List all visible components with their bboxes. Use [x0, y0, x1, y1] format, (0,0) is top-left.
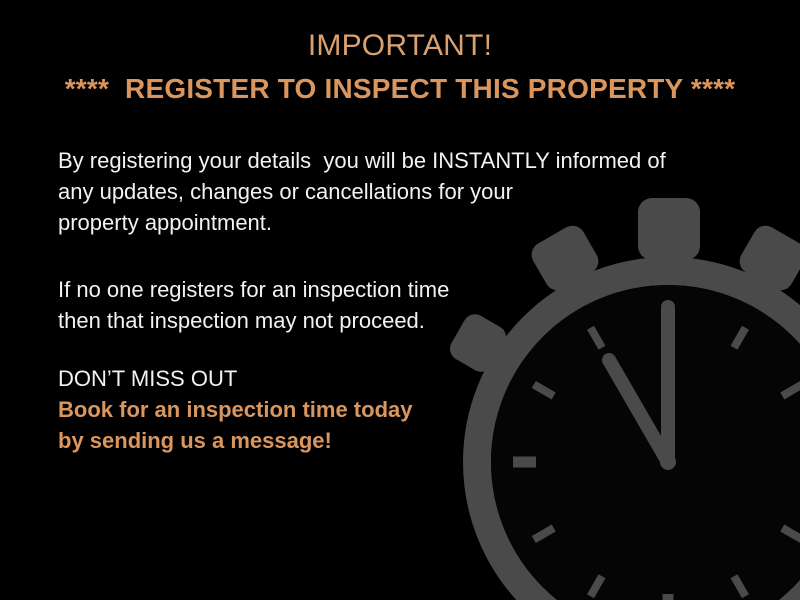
- cta-book-inspection: Book for an inspection time today: [58, 394, 412, 425]
- headline-register-to-inspect: **** REGISTER TO INSPECT THIS PROPERTY *…: [0, 74, 800, 105]
- paragraph-no-registration-warning: If no one registers for an inspection ti…: [58, 274, 449, 336]
- cta-send-message: by sending us a message!: [58, 425, 412, 456]
- paragraph-line: then that inspection may not proceed.: [58, 305, 449, 336]
- slide-canvas: IMPORTANT! **** REGISTER TO INSPECT THIS…: [0, 0, 800, 600]
- paragraph-registering-details: By registering your details you will be …: [58, 145, 666, 238]
- text-layer: IMPORTANT! **** REGISTER TO INSPECT THIS…: [0, 0, 800, 600]
- paragraph-line: property appointment.: [58, 207, 666, 238]
- headline-important: IMPORTANT!: [0, 30, 800, 62]
- paragraph-line: If no one registers for an inspection ti…: [58, 274, 449, 305]
- paragraph-line: any updates, changes or cancellations fo…: [58, 176, 666, 207]
- paragraph-line: By registering your details you will be …: [58, 145, 666, 176]
- call-to-action-block: DON’T MISS OUT Book for an inspection ti…: [58, 363, 412, 456]
- cta-dont-miss-out: DON’T MISS OUT: [58, 363, 412, 394]
